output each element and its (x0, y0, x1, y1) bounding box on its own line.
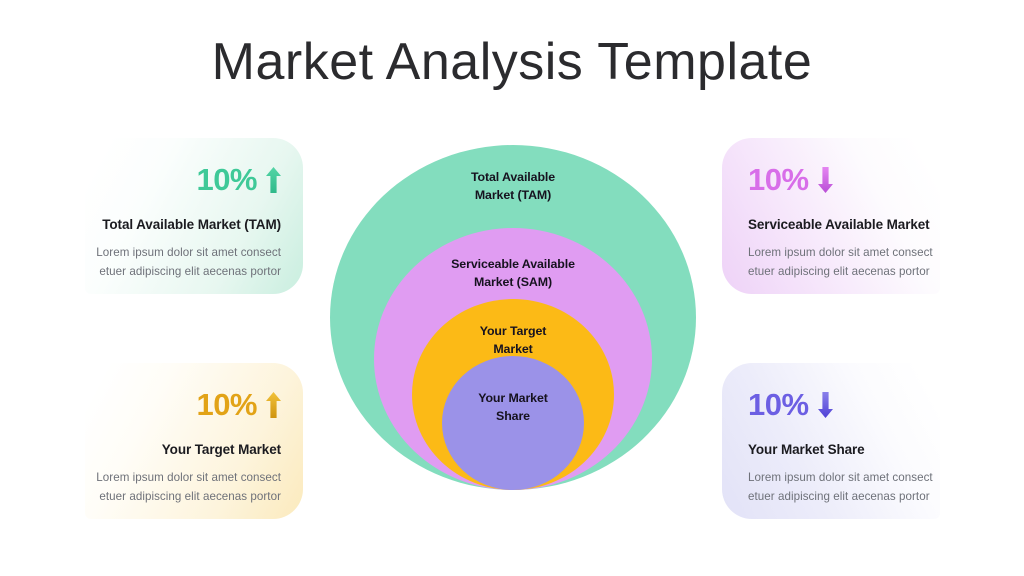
card-title: Your Market Share (748, 442, 865, 458)
circle-label-target-line1: Your Target (412, 323, 614, 341)
arrow-down-icon (818, 392, 833, 418)
card-title: Serviceable Available Market (748, 217, 930, 233)
card-description: Lorem ipsum dolor sit amet consect etuer… (748, 244, 933, 282)
metric-percent: 10% (196, 164, 257, 195)
circle-your-market-share[interactable]: Your Market Share (442, 356, 584, 490)
card-description: Lorem ipsum dolor sit amet consect etuer… (96, 244, 281, 282)
card-description-line2: etuer adipiscing elit aecenas portor (96, 263, 281, 282)
circle-label-share-line1: Your Market (442, 390, 584, 408)
circle-label-sam-line1: Serviceable Available (374, 256, 652, 274)
circle-label-tam-line1: Total Available (330, 169, 696, 187)
circle-label-target: Your Target Market (412, 323, 614, 358)
metric-percent: 10% (748, 389, 809, 420)
card-description-line2: etuer adipiscing elit aecenas portor (748, 263, 933, 282)
metric-row: 10% (748, 164, 833, 195)
card-description-line1: Lorem ipsum dolor sit amet consect (96, 244, 281, 263)
arrow-up-icon (266, 167, 281, 193)
metric-row: 10% (748, 389, 833, 420)
card-description-line1: Lorem ipsum dolor sit amet consect (96, 469, 281, 488)
circle-label-share-line2: Share (442, 408, 584, 426)
slide-canvas: Market Analysis Template 10% Total Avail… (0, 0, 1024, 576)
arrow-down-icon (818, 167, 833, 193)
page-title: Market Analysis Template (0, 34, 1024, 91)
card-description: Lorem ipsum dolor sit amet consect etuer… (748, 469, 933, 507)
circle-label-tam: Total Available Market (TAM) (330, 169, 696, 204)
card-title: Total Available Market (TAM) (102, 217, 281, 233)
card-your-target-market[interactable]: 10% Your Target Market Lorem ipsum dolor… (85, 363, 303, 519)
card-your-market-share[interactable]: 10% Your Market Share Lorem ipsum dolor … (722, 363, 940, 519)
circle-label-sam: Serviceable Available Market (SAM) (374, 256, 652, 291)
card-description-line2: etuer adipiscing elit aecenas portor (96, 488, 281, 507)
card-serviceable-available-market[interactable]: 10% Serviceable Available Market Lorem i… (722, 138, 940, 294)
metric-percent: 10% (196, 389, 257, 420)
card-description-line2: etuer adipiscing elit aecenas portor (748, 488, 933, 507)
card-description: Lorem ipsum dolor sit amet consect etuer… (96, 469, 281, 507)
card-title: Your Target Market (162, 442, 281, 458)
circle-label-share: Your Market Share (442, 390, 584, 425)
nested-circles-diagram: Total Available Market (TAM) Serviceable… (330, 145, 696, 490)
circle-label-tam-line2: Market (TAM) (330, 187, 696, 205)
card-total-available-market[interactable]: 10% Total Available Market (TAM) Lorem i… (85, 138, 303, 294)
metric-row: 10% (196, 164, 281, 195)
arrow-up-icon (266, 392, 281, 418)
card-description-line1: Lorem ipsum dolor sit amet consect (748, 244, 933, 263)
circle-label-sam-line2: Market (SAM) (374, 274, 652, 292)
metric-percent: 10% (748, 164, 809, 195)
card-description-line1: Lorem ipsum dolor sit amet consect (748, 469, 933, 488)
metric-row: 10% (196, 389, 281, 420)
